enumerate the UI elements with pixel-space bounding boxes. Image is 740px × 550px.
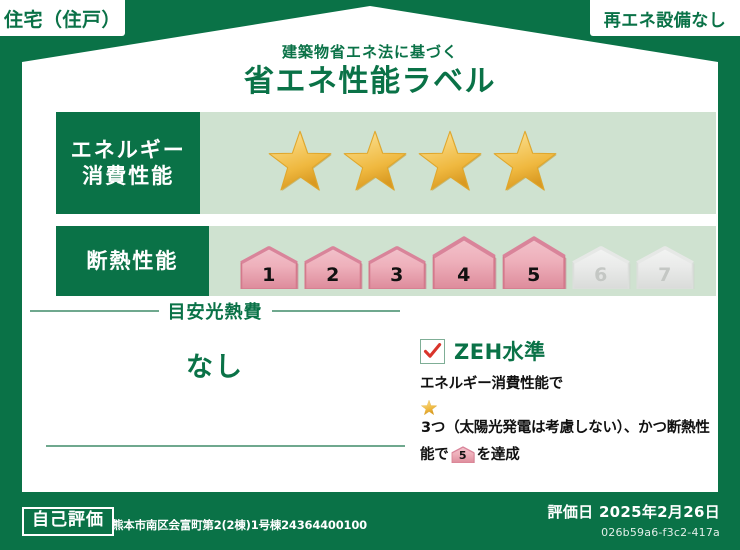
rule-right xyxy=(272,310,401,312)
house-badge-icon: 5 xyxy=(451,451,475,467)
zeh-checkbox xyxy=(420,339,445,364)
star-icon xyxy=(420,399,438,417)
zeh-header: ZEH水準 xyxy=(420,336,710,366)
insulation-scale: 1234567 xyxy=(209,226,716,296)
zeh-block: ZEH水準 エネルギー消費性能で3つ（太陽光発電は考慮しない）、かつ断熱性能で5… xyxy=(420,336,710,471)
insulation-level-label: 6 xyxy=(571,266,631,285)
insulation-level-3: 3 xyxy=(367,245,427,289)
energy-performance-label: 住宅（住戸） 再エネ設備なし 建築物省エネ法に基づく 省エネ性能ラベル エネルギ… xyxy=(0,0,740,550)
badge-building-type: 住宅（住戸） xyxy=(0,0,125,36)
evaluation-type-badge: 自己評価 xyxy=(22,507,114,536)
row-energy-label-line1: エネルギー xyxy=(71,137,186,163)
star-icon xyxy=(414,127,486,199)
zeh-title: ZEH水準 xyxy=(454,336,546,366)
insulation-level-label: 3 xyxy=(367,266,427,285)
insulation-level-2: 2 xyxy=(303,245,363,289)
row-insulation-label-line1: 断熱性能 xyxy=(86,248,178,274)
insulation-level-1: 1 xyxy=(239,245,299,289)
star-icon xyxy=(489,127,561,199)
evaluation-date: 評価日 2025年2月26日 xyxy=(548,501,720,522)
utility-cost-title: 目安光熱費 xyxy=(168,298,263,324)
insulation-level-label: 4 xyxy=(431,266,497,285)
evaluation-id: 026b59a6-f3c2-417a xyxy=(601,526,720,539)
badge-renewable-energy-label: 再エネ設備なし xyxy=(604,6,727,31)
footer: 自己評価 熊本市南区会富町第2(2棟)1号棟24364400100 評価日 20… xyxy=(0,492,740,550)
row-insulation-performance: 断熱性能 1234567 xyxy=(56,226,716,296)
star-icon xyxy=(264,127,336,199)
insulation-level-5: 5 xyxy=(501,235,567,289)
row-energy-label: エネルギー 消費性能 xyxy=(56,112,200,214)
rule-left xyxy=(30,310,159,312)
badge-building-type-label: 住宅（住戸） xyxy=(4,5,121,32)
header-subtitle: 建築物省エネ法に基づく xyxy=(0,44,740,61)
star-rating xyxy=(200,112,716,214)
insulation-level-6: 6 xyxy=(571,245,631,289)
badge-renewable-energy: 再エネ設備なし xyxy=(590,0,740,36)
insulation-level-label: 5 xyxy=(501,266,567,285)
utility-cost-divider xyxy=(46,445,405,447)
utility-cost-value: なし xyxy=(30,345,400,384)
zeh-desc-part4: を達成 xyxy=(477,447,520,463)
insulation-level-label: 7 xyxy=(635,266,695,285)
insulation-level-5: 5 xyxy=(451,446,475,463)
star-icon xyxy=(420,399,710,417)
zeh-desc-part2: 3つ（太陽光発電 xyxy=(421,420,531,436)
zeh-description: エネルギー消費性能で3つ（太陽光発電は考慮しない）、かつ断熱性能で5を達成 xyxy=(420,373,710,471)
utility-cost-header: 目安光熱費 xyxy=(30,300,400,322)
row-energy-label-line2: 消費性能 xyxy=(82,163,174,189)
insulation-level-label: 2 xyxy=(303,266,363,285)
page-title: 省エネ性能ラベル xyxy=(0,65,740,98)
row-insulation-label: 断熱性能 xyxy=(56,226,209,296)
header: 建築物省エネ法に基づく 省エネ性能ラベル xyxy=(0,44,740,98)
property-address: 熊本市南区会富町第2(2棟)1号棟24364400100 xyxy=(112,517,367,533)
insulation-level-4: 4 xyxy=(431,235,497,289)
star-icon xyxy=(339,127,411,199)
row-energy-performance: エネルギー 消費性能 xyxy=(56,112,716,214)
label-body: エネルギー 消費性能 断熱性能 1234567 目安光熱費 なし xyxy=(22,100,718,492)
insulation-level-label: 1 xyxy=(239,266,299,285)
insulation-level-7: 7 xyxy=(635,245,695,289)
check-icon xyxy=(423,342,442,361)
insulation-level-label: 5 xyxy=(451,450,475,461)
zeh-desc-part1: エネルギー消費性能で xyxy=(420,376,563,392)
